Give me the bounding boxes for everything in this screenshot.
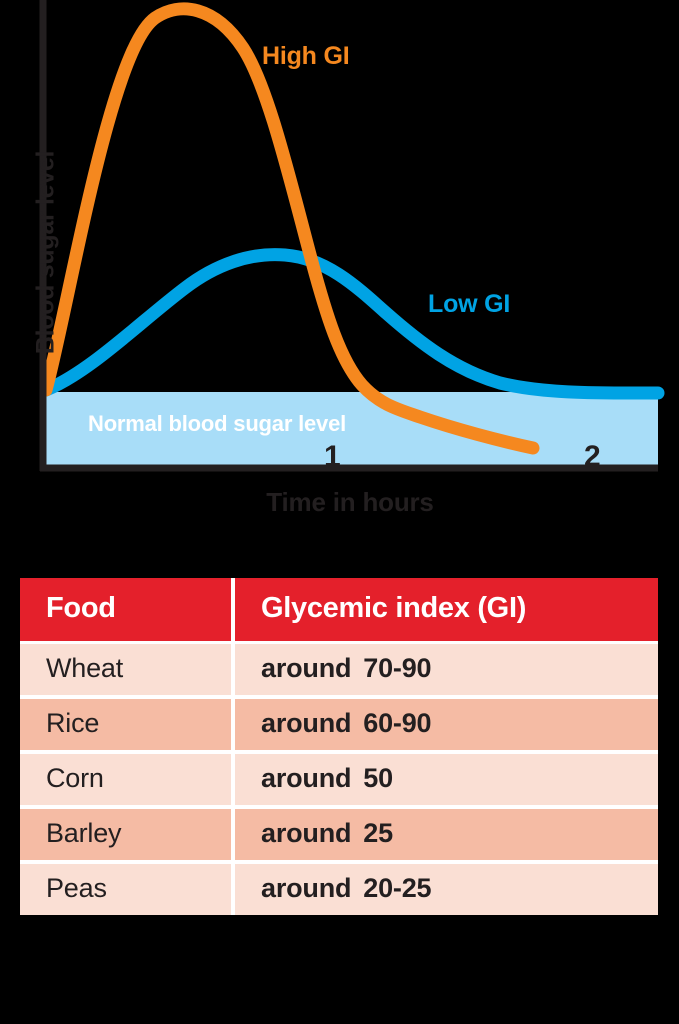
table-body: Wheataround70-90Ricearound60-90Cornaroun… (20, 644, 658, 915)
cell-glycemic-index: around20-25 (235, 864, 658, 915)
y-axis-title: Blood sugar level (32, 123, 61, 383)
cell-food: Barley (20, 809, 235, 864)
table-header-row: Food Glycemic index (GI) (20, 578, 658, 644)
gi-value: 25 (363, 818, 393, 848)
cell-food: Rice (20, 699, 235, 754)
low-gi-series-label: Low GI (428, 290, 510, 319)
table-row: Cornaround50 (20, 754, 658, 809)
table-row: Wheataround70-90 (20, 644, 658, 699)
x-axis-title: Time in hours (42, 487, 658, 518)
cell-food: Wheat (20, 644, 235, 699)
column-header-glycemic-index: Glycemic index (GI) (235, 578, 658, 644)
table-row: Barleyaround25 (20, 809, 658, 864)
gi-value: 70-90 (363, 653, 431, 683)
gi-qualifier: around (261, 873, 351, 903)
gi-value: 50 (363, 763, 393, 793)
glycemic-index-table: Food Glycemic index (GI) Wheataround70-9… (20, 578, 658, 915)
gi-qualifier: around (261, 708, 351, 738)
cell-food: Corn (20, 754, 235, 809)
cell-glycemic-index: around25 (235, 809, 658, 864)
gi-qualifier: around (261, 763, 351, 793)
blood-sugar-chart: Blood sugar level Normal blood sugar lev… (0, 0, 679, 540)
x-tick-label-1: 1 (324, 440, 340, 474)
table-row: Peasaround20-25 (20, 864, 658, 915)
cell-glycemic-index: around60-90 (235, 699, 658, 754)
gi-value: 60-90 (363, 708, 431, 738)
gi-qualifier: around (261, 653, 351, 683)
gi-value: 20-25 (363, 873, 431, 903)
cell-glycemic-index: around70-90 (235, 644, 658, 699)
high-gi-series-label: High GI (262, 42, 349, 71)
normal-band-label: Normal blood sugar level (88, 411, 346, 437)
table-row: Ricearound60-90 (20, 699, 658, 754)
x-tick-label-2: 2 (584, 440, 600, 474)
column-header-food: Food (20, 578, 235, 644)
high-gi-curve (46, 9, 533, 448)
gi-qualifier: around (261, 818, 351, 848)
cell-glycemic-index: around50 (235, 754, 658, 809)
cell-food: Peas (20, 864, 235, 915)
